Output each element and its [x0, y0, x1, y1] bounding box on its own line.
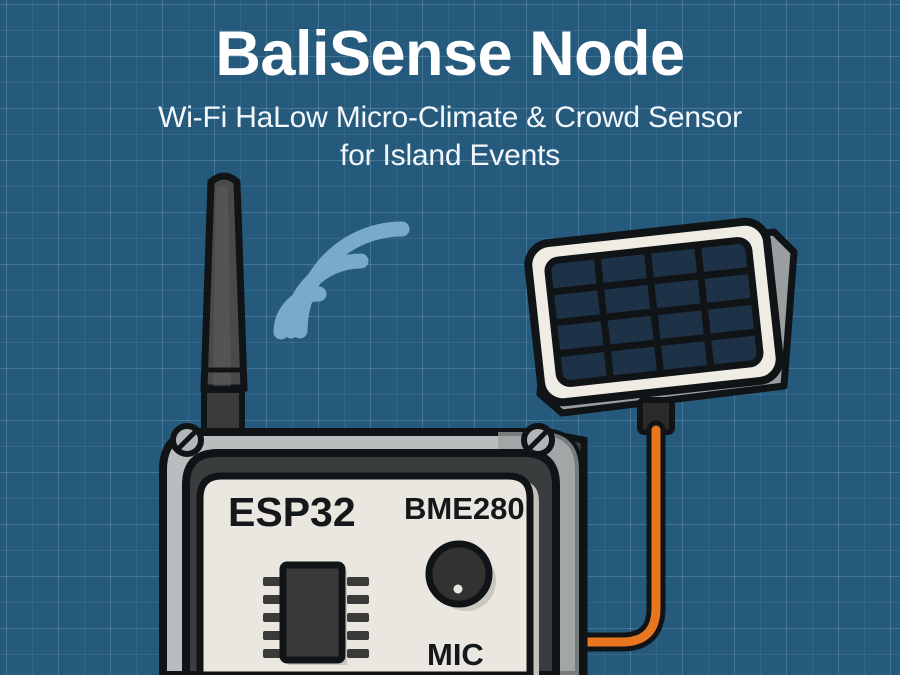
screw-right	[524, 426, 552, 454]
label-bme280: BME280	[404, 491, 525, 527]
poster-canvas: BaliSense Node Wi-Fi HaLow Micro-Climate…	[0, 0, 900, 675]
wifi-signal-icon	[281, 229, 402, 332]
label-mic: MIC	[427, 637, 484, 673]
solar-panel	[526, 220, 794, 432]
enclosure	[163, 426, 584, 675]
screw-left	[173, 426, 201, 454]
antenna	[204, 176, 244, 438]
solar-cable	[582, 430, 656, 642]
device-illustration	[0, 0, 900, 675]
label-esp32: ESP32	[228, 489, 356, 536]
mcu-chip	[263, 565, 369, 665]
